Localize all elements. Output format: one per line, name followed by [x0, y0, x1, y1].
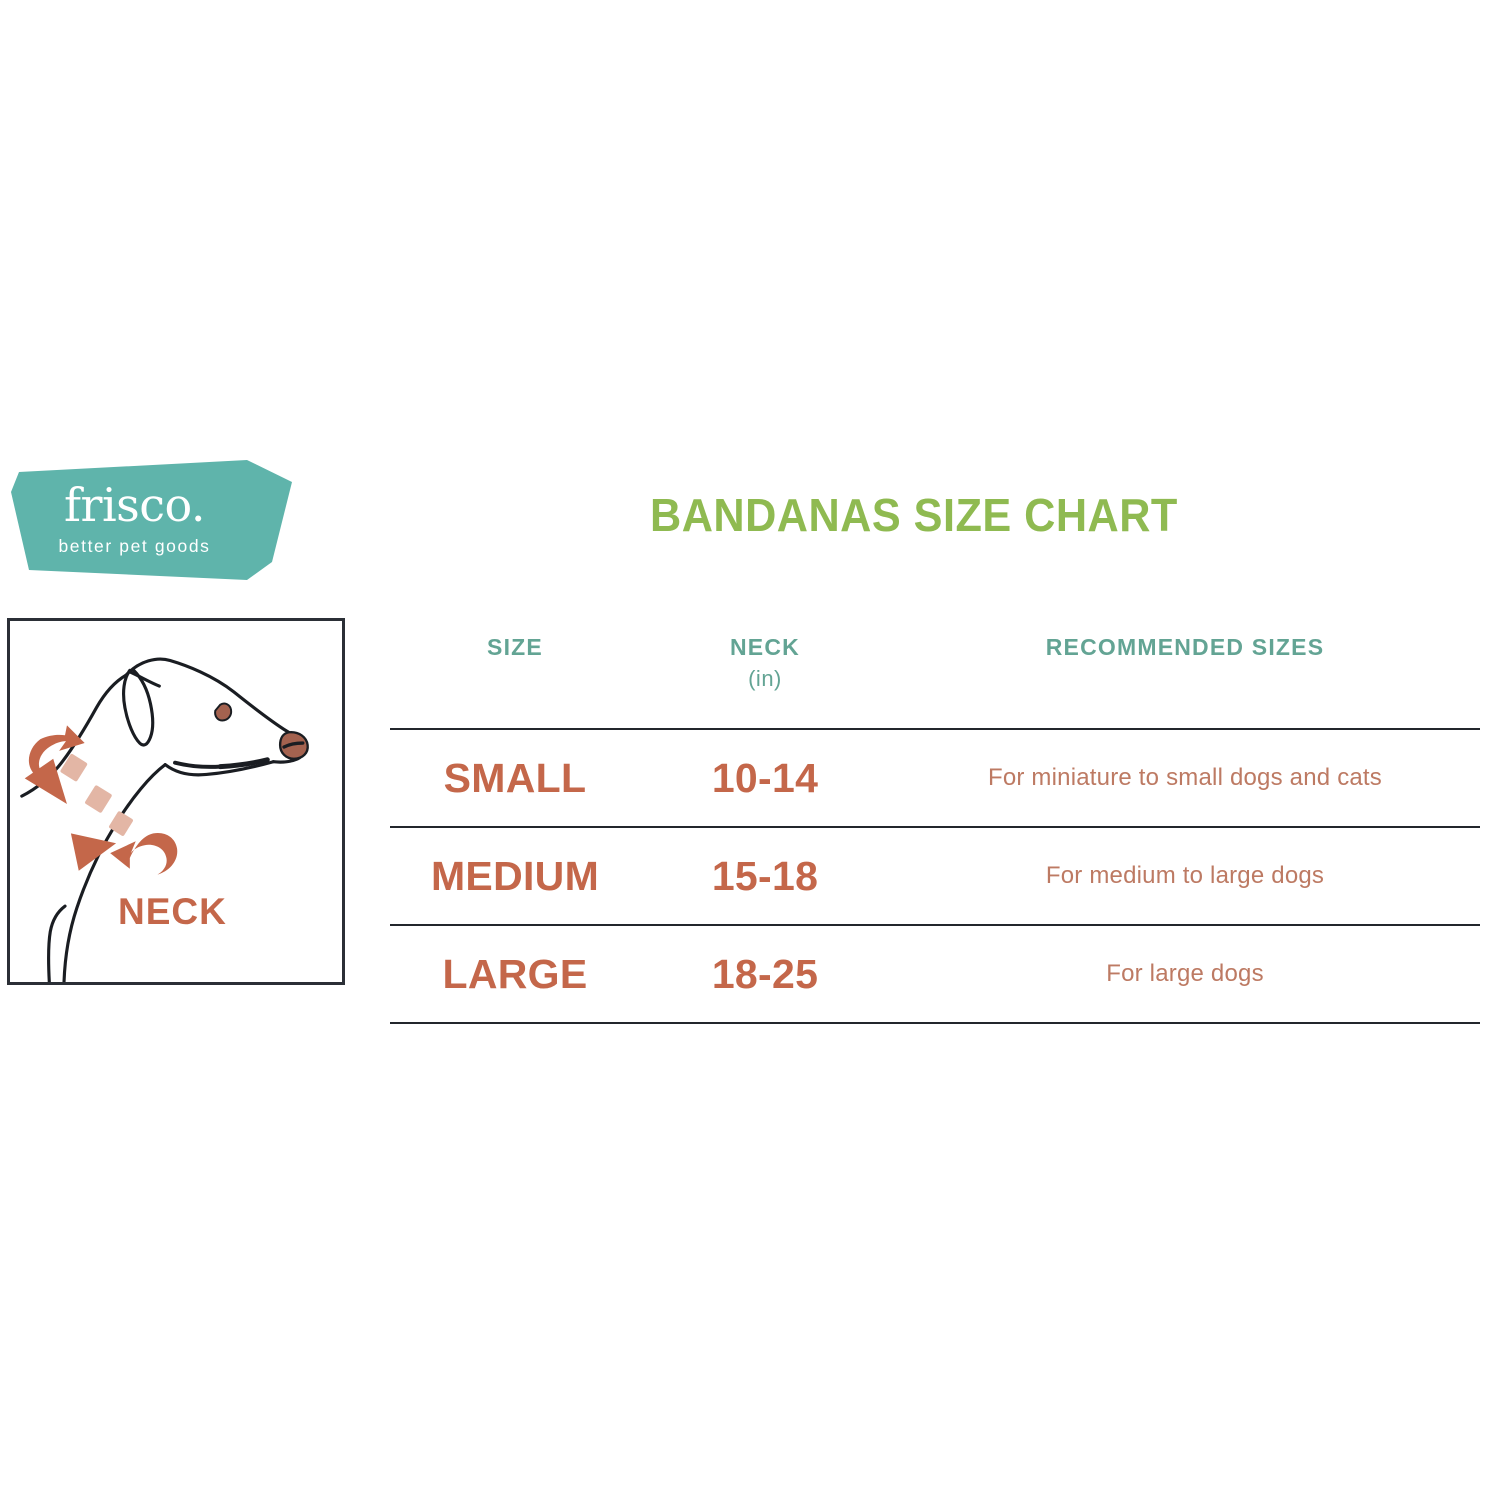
- table-header-row: SIZE NECK (in) RECOMMENDED SIZES: [390, 630, 1480, 728]
- cell-recommended: For miniature to small dogs and cats: [890, 764, 1480, 793]
- cell-neck: 15-18: [640, 856, 890, 897]
- cell-size: LARGE: [390, 954, 640, 995]
- cell-neck: 18-25: [640, 954, 890, 995]
- cell-recommended: For large dogs: [890, 960, 1480, 989]
- dog-outline-icon: [22, 659, 304, 982]
- table-row: SMALL 10-14 For miniature to small dogs …: [390, 730, 1480, 826]
- page-title: BANDANAS SIZE CHART: [650, 492, 1178, 538]
- table-row: LARGE 18-25 For large dogs: [390, 926, 1480, 1022]
- table-divider: [390, 1022, 1480, 1024]
- logo-banner-shape: [7, 452, 292, 582]
- column-header-neck: NECK (in): [640, 634, 890, 692]
- cell-recommended: For medium to large dogs: [890, 862, 1480, 891]
- column-header-recommended: RECOMMENDED SIZES: [890, 634, 1480, 660]
- cell-neck: 10-14: [640, 758, 890, 799]
- cell-size: SMALL: [390, 758, 640, 799]
- neck-measurement-diagram: NECK: [7, 618, 345, 985]
- measurement-arrow-lower: [71, 833, 177, 875]
- dog-eye-icon: [215, 704, 231, 721]
- column-header-neck-label: NECK: [730, 634, 800, 660]
- table-row: MEDIUM 15-18 For medium to large dogs: [390, 828, 1480, 924]
- column-header-neck-units: (in): [640, 666, 890, 691]
- frisco-logo: frisco. better pet goods: [7, 452, 292, 582]
- neck-label: NECK: [118, 893, 227, 930]
- cell-size: MEDIUM: [390, 856, 640, 897]
- column-header-size: SIZE: [390, 634, 640, 660]
- measurement-dash-line: [60, 753, 134, 836]
- bandana-size-table: SIZE NECK (in) RECOMMENDED SIZES SMALL 1…: [390, 630, 1480, 1024]
